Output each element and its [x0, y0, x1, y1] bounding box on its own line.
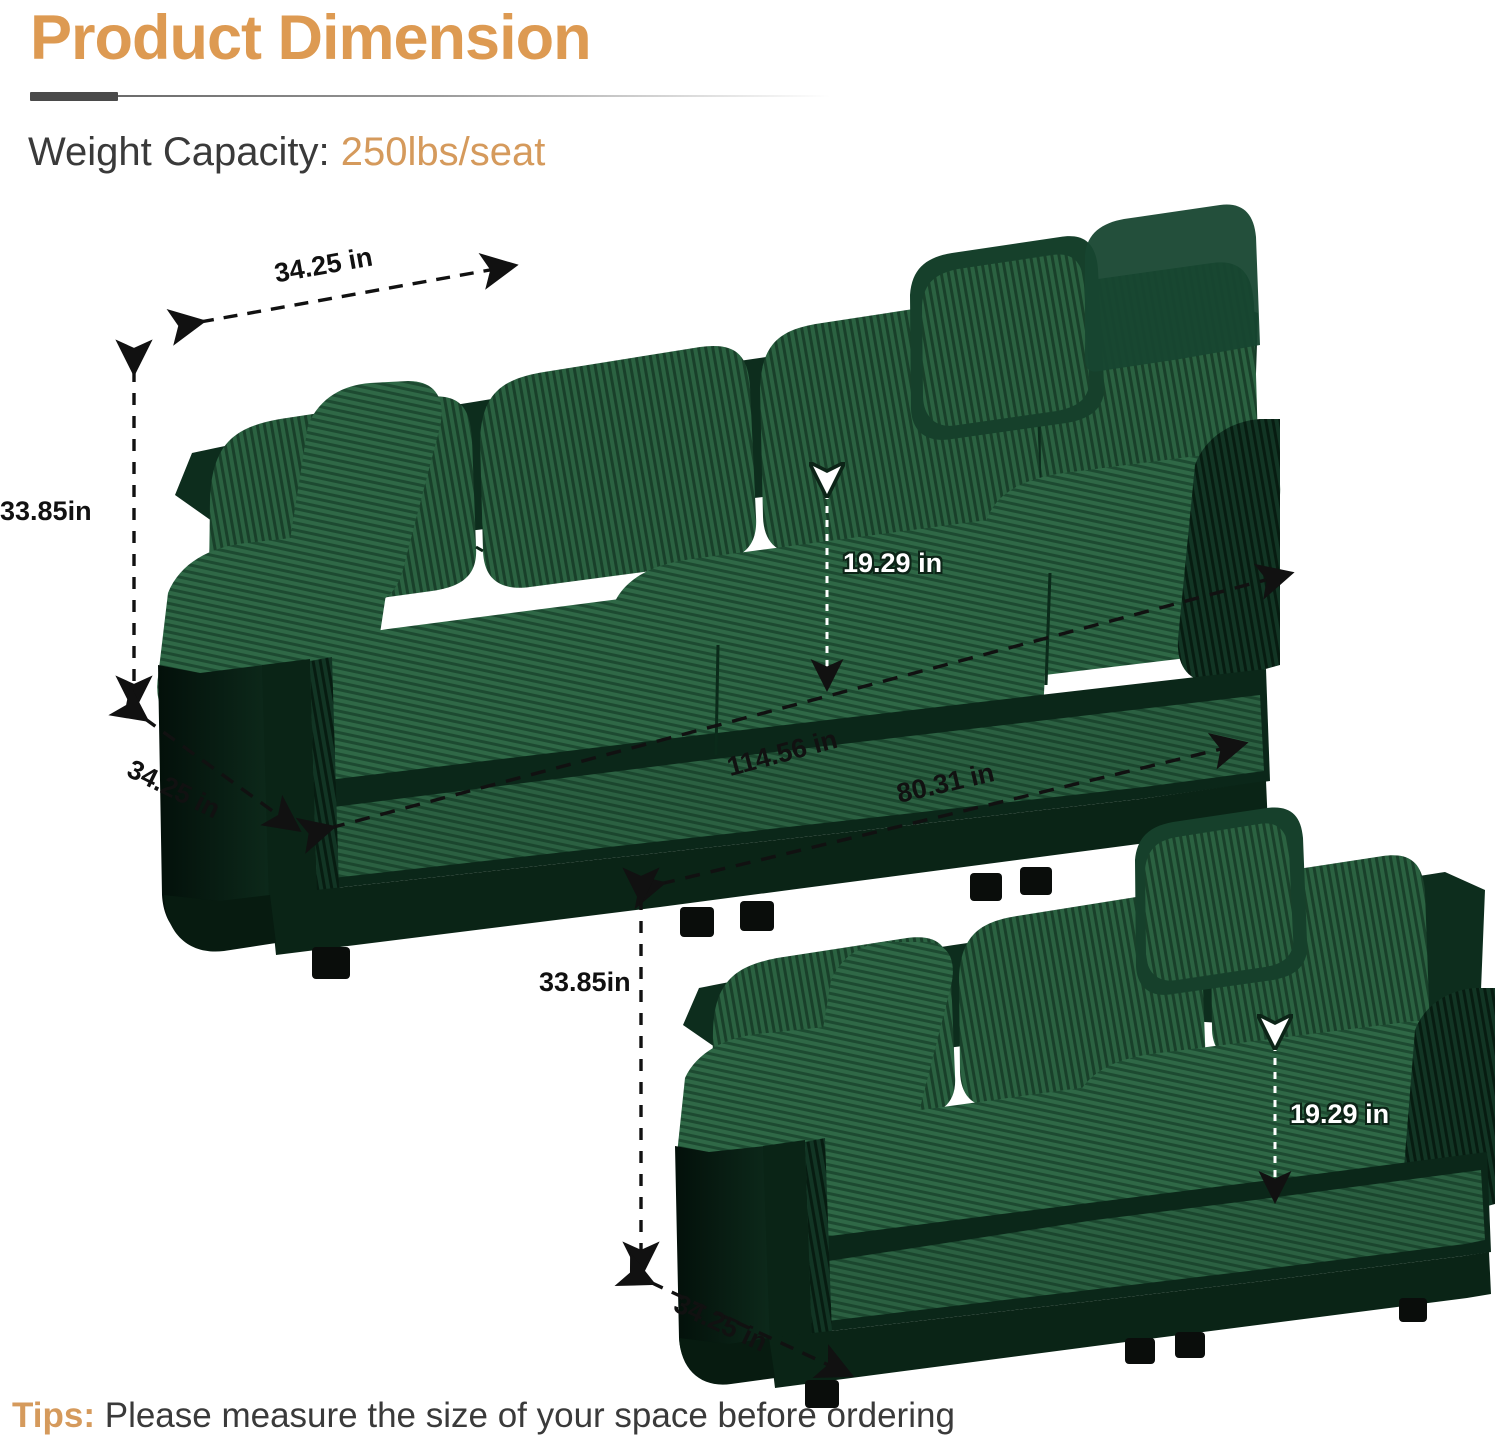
- tips-note: Tips: Please measure the size of your sp…: [12, 1396, 955, 1436]
- tips-label: Tips:: [12, 1396, 95, 1435]
- sofa-large-illustration: [140, 195, 1280, 825]
- tips-text: Please measure the size of your space be…: [105, 1396, 955, 1435]
- dim-label-small-seat-height: 19.29 in: [1290, 1099, 1389, 1130]
- weight-capacity-label: Weight Capacity:: [28, 130, 330, 174]
- weight-capacity: Weight Capacity: 250lbs/seat: [28, 130, 545, 175]
- divider-thin-line: [118, 95, 830, 97]
- dim-label-small-height: 33.85in: [539, 967, 631, 998]
- weight-capacity-value: 250lbs/seat: [341, 130, 546, 174]
- dim-label-large-height: 33.85in: [0, 496, 92, 527]
- sofa-small-illustration: [655, 790, 1495, 1360]
- dim-label-large-seat-height: 19.29 in: [843, 548, 942, 579]
- divider-thick-segment: [30, 92, 118, 101]
- title-divider: [30, 92, 830, 101]
- page-title: Product Dimension: [30, 2, 591, 74]
